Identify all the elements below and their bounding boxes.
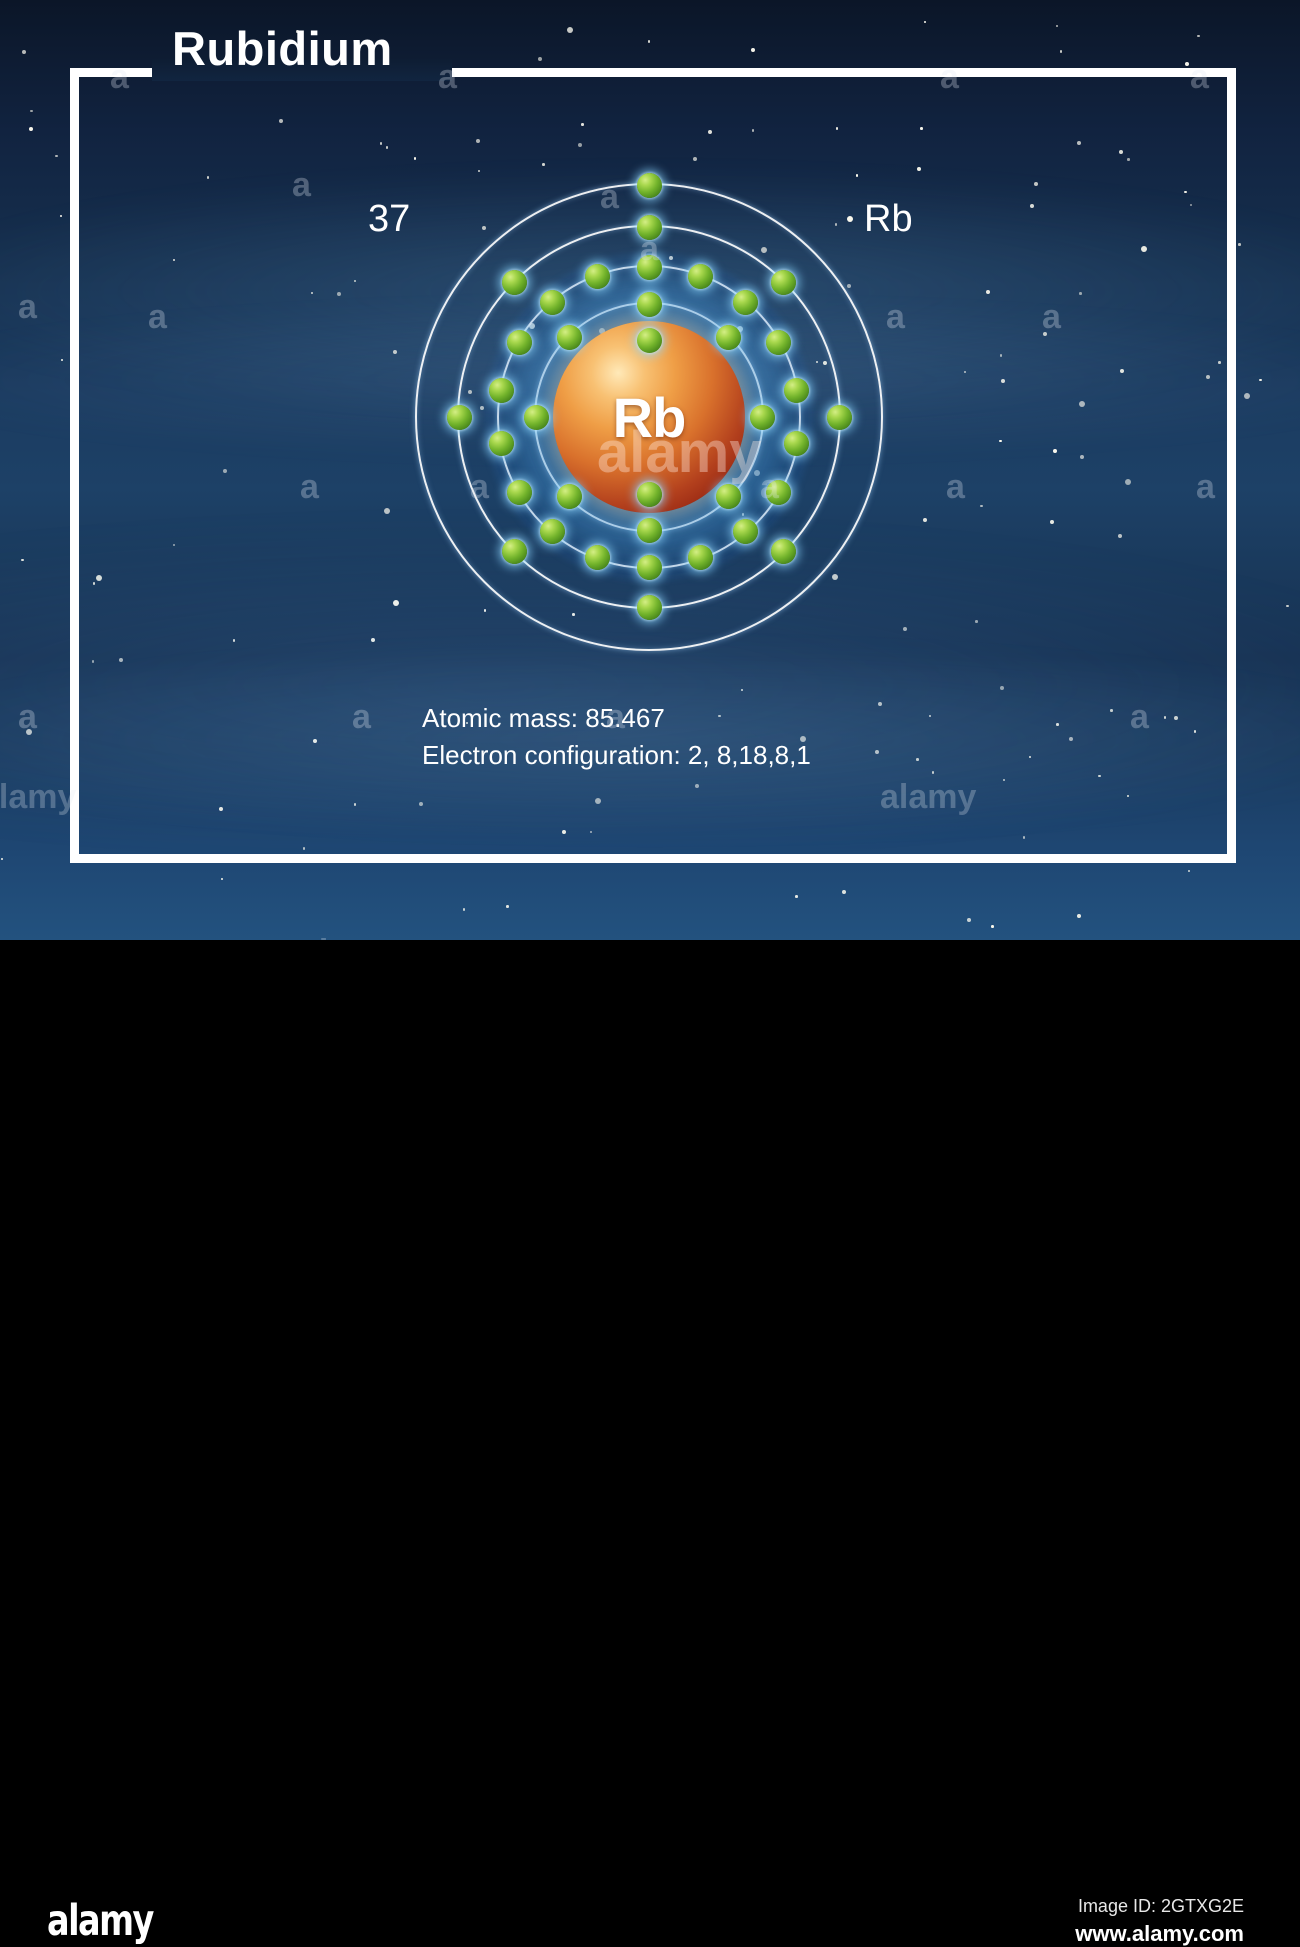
electron: [637, 518, 662, 543]
star: [648, 40, 651, 43]
electron: [524, 405, 549, 430]
footer-bar: alamy Image ID: 2GTXG2E www.alamy.com: [0, 940, 1300, 1020]
atomic-mass-line: Atomic mass: 85.467: [422, 700, 811, 737]
star: [1, 858, 4, 861]
star: [1185, 62, 1189, 66]
star: [1197, 35, 1200, 38]
star: [1188, 870, 1191, 873]
alamy-url-text[interactable]: www.alamy.com: [1075, 1921, 1244, 1947]
electron: [637, 595, 662, 620]
electron: [637, 292, 662, 317]
electron: [489, 431, 514, 456]
electron: [771, 270, 796, 295]
electron: [507, 330, 532, 355]
electron: [637, 555, 662, 580]
electron: [507, 480, 532, 505]
star: [55, 155, 58, 158]
page-title: Rubidium: [172, 25, 393, 72]
electron-configuration-line: Electron configuration: 2, 8,18,8,1: [422, 737, 811, 774]
bohr-atom-diagram: Rb: [393, 161, 905, 673]
screenshot-root: Rubidium 37 Rb Rb Atomic mass: 85.467 El…: [0, 0, 1300, 1020]
electron: [716, 325, 741, 350]
star: [29, 127, 33, 131]
star: [30, 110, 33, 113]
star: [1056, 25, 1059, 28]
electron: [637, 328, 662, 353]
electron: [637, 482, 662, 507]
star: [26, 729, 32, 735]
star: [221, 878, 224, 881]
star: [567, 27, 573, 33]
caption-block: Atomic mass: 85.467 Electron configurati…: [422, 700, 811, 774]
electron: [827, 405, 852, 430]
star: [967, 918, 971, 922]
star: [795, 895, 798, 898]
star: [842, 890, 846, 894]
star: [924, 21, 927, 24]
electron: [557, 325, 582, 350]
electron: [637, 255, 662, 280]
star: [538, 57, 542, 61]
electron: [585, 264, 610, 289]
star: [751, 48, 755, 52]
electron: [784, 431, 809, 456]
electron: [771, 539, 796, 564]
electron: [447, 405, 472, 430]
alamy-logo: alamy: [47, 1896, 153, 1946]
star: [22, 50, 26, 54]
star: [1060, 50, 1063, 53]
star: [1077, 914, 1081, 918]
electron: [766, 330, 791, 355]
star: [506, 905, 509, 908]
star: [60, 215, 63, 218]
electron: [750, 405, 775, 430]
electron: [766, 480, 791, 505]
star: [1286, 605, 1289, 608]
image-id-text: Image ID: 2GTXG2E: [1078, 1896, 1244, 1917]
star: [21, 559, 24, 562]
electron: [733, 290, 758, 315]
star: [991, 925, 994, 928]
electron: [540, 290, 565, 315]
star: [463, 908, 466, 911]
electron: [557, 484, 582, 509]
electron: [637, 173, 662, 198]
electron: [502, 539, 527, 564]
electron: [637, 215, 662, 240]
star: [1238, 243, 1241, 246]
electron: [688, 264, 713, 289]
